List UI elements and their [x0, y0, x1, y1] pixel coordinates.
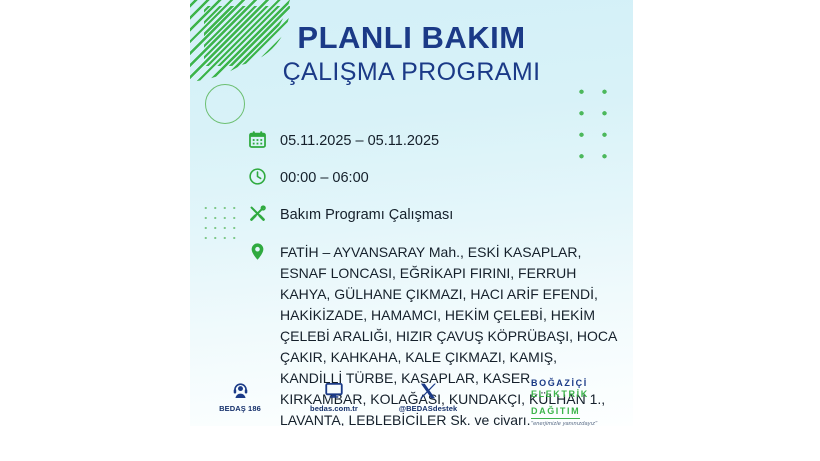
dot-grid-decoration-left — [200, 202, 236, 244]
date-range-text: 05.11.2025 – 05.11.2025 — [280, 130, 439, 152]
info-row-work-type: Bakım Programı Çalışması — [245, 204, 620, 226]
bedas-logo: BOĞAZİÇİ ELEKTRİK DAĞITIM "enerjimizle y… — [531, 378, 623, 426]
logo-tagline: "enerjimizle yanınızdayız" — [531, 421, 623, 426]
x-twitter-icon — [392, 380, 464, 401]
clock-icon — [245, 167, 269, 189]
contact-phone[interactable]: BEDAŞ 186 — [204, 380, 276, 413]
info-row-time: 00:00 – 06:00 — [245, 167, 620, 189]
logo-line-elektrik: ELEKTRİK — [531, 389, 623, 400]
logo-line-bogazici: BOĞAZİÇİ — [531, 378, 623, 389]
monitor-icon — [298, 380, 370, 401]
logo-line-dagitim: DAĞITIM — [531, 406, 580, 419]
contact-channels: BEDAŞ 186 bedas.com.tr — [204, 380, 464, 413]
location-pin-icon — [245, 241, 269, 264]
circle-outline-decoration — [205, 84, 245, 124]
screenshot-stage: PLANLI BAKIM ÇALIŞMA PROGRAMI — [0, 0, 820, 461]
contact-phone-label: BEDAŞ 186 — [204, 404, 276, 413]
page-subtitle: ÇALIŞMA PROGRAMI — [190, 58, 633, 87]
contact-x-label: @BEDASdestek — [392, 404, 464, 413]
work-type-text: Bakım Programı Çalışması — [280, 204, 453, 226]
card-footer: BEDAŞ 186 bedas.com.tr — [190, 380, 633, 426]
info-row-date: 05.11.2025 – 05.11.2025 — [245, 130, 620, 152]
contact-x[interactable]: @BEDASdestek — [392, 380, 464, 413]
announcement-card: PLANLI BAKIM ÇALIŞMA PROGRAMI — [190, 0, 633, 426]
contact-website[interactable]: bedas.com.tr — [298, 380, 370, 413]
calendar-icon — [245, 130, 269, 152]
contact-website-label: bedas.com.tr — [298, 404, 370, 413]
title-block: PLANLI BAKIM ÇALIŞMA PROGRAMI — [190, 22, 633, 86]
time-range-text: 00:00 – 06:00 — [280, 167, 369, 189]
page-title: PLANLI BAKIM — [190, 22, 633, 55]
headset-support-icon — [204, 380, 276, 401]
tools-icon — [245, 204, 269, 226]
